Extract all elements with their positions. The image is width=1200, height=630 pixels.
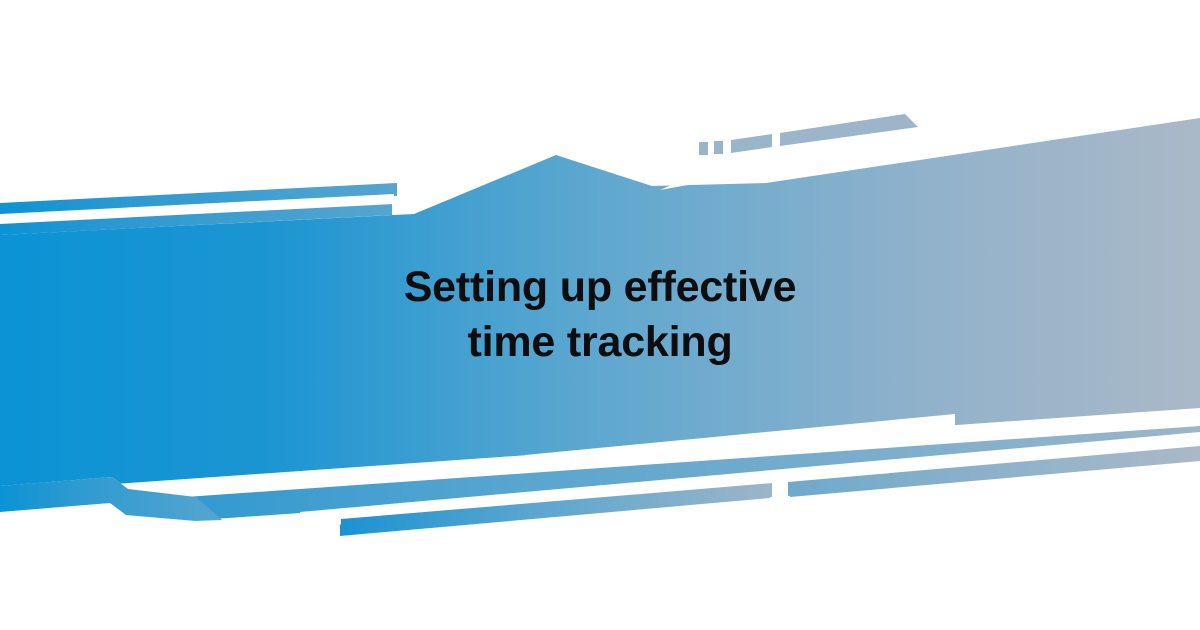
top-right-dash-4 (780, 114, 918, 146)
top-right-dash-1 (699, 142, 708, 155)
top-right-dash-3 (731, 134, 772, 153)
decorative-background-art (0, 0, 1200, 630)
top-right-dash-2 (714, 141, 723, 154)
banner-card: Setting up effective time tracking (0, 0, 1200, 630)
